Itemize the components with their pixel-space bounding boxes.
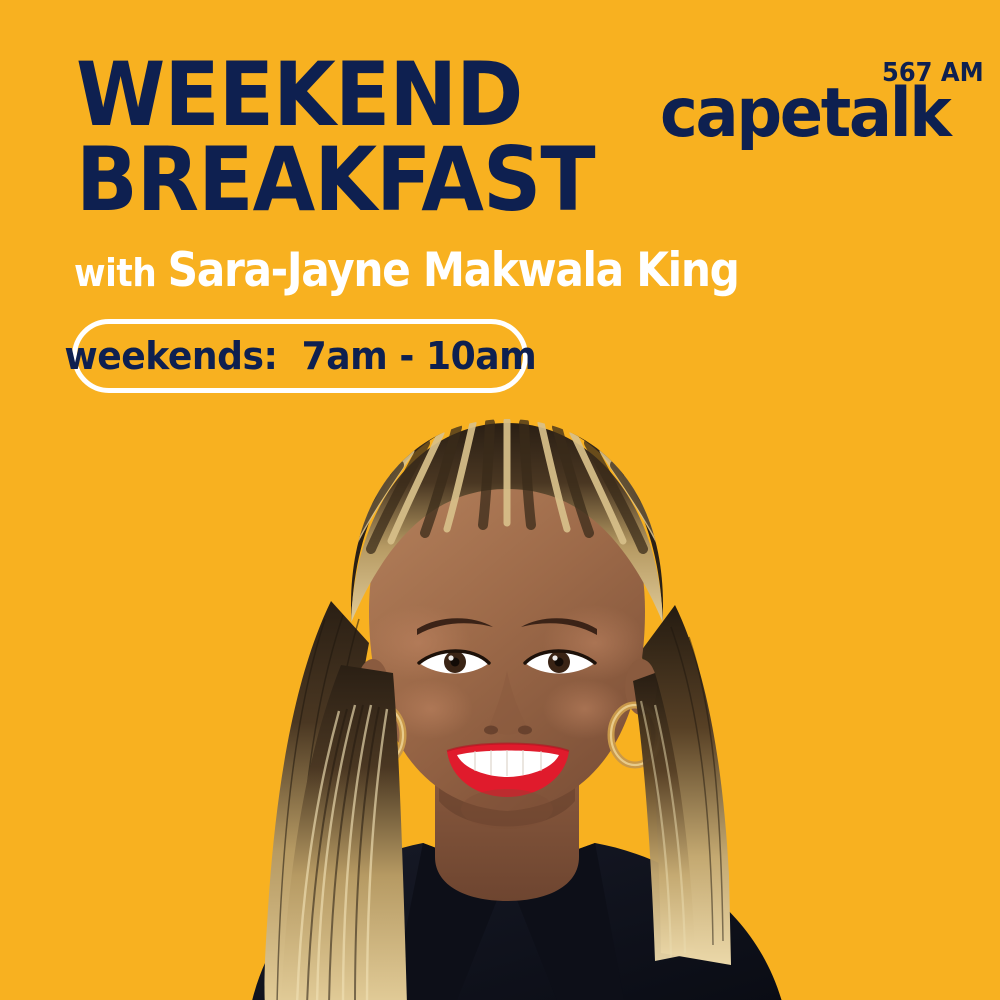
presenter-photo bbox=[155, 405, 855, 1000]
station-logo[interactable]: capetalk 567 AM bbox=[660, 52, 970, 147]
show-promo-poster: capetalk 567 AM WEEKEND BREAKFAST with S… bbox=[0, 0, 1000, 1000]
presenter-name: Sara-Jayne Makwala King bbox=[168, 243, 739, 298]
schedule-badge-label: weekends: 7am - 10am bbox=[64, 337, 536, 375]
schedule-badge: weekends: 7am - 10am bbox=[72, 319, 528, 393]
headline-line-2: BREAKFAST bbox=[76, 137, 595, 222]
presenter-prefix: with bbox=[74, 251, 168, 295]
page-title: WEEKEND BREAKFAST bbox=[76, 52, 595, 222]
station-logo-wordmark: capetalk bbox=[660, 80, 949, 148]
headline-line-1: WEEKEND bbox=[76, 52, 595, 137]
station-logo-frequency: 567 AM bbox=[882, 60, 984, 86]
presenter-credit: with Sara-Jayne Makwala King bbox=[74, 245, 739, 299]
presenter-photo-illustration bbox=[155, 405, 855, 1000]
